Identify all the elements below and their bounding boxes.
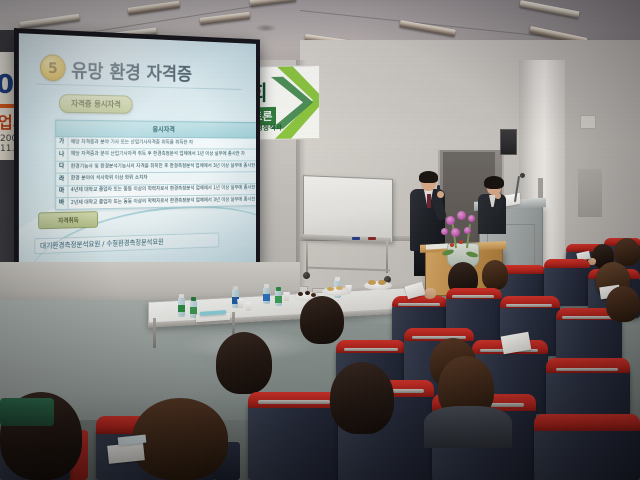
seat-bar — [398, 303, 440, 306]
seat-headrest — [336, 340, 406, 353]
handout-booklet — [107, 442, 145, 464]
bottle-cap — [276, 287, 281, 291]
orchid-bloom — [451, 228, 460, 237]
slide-row-key: 다 — [56, 161, 68, 173]
person-at-lectern-hair — [484, 176, 504, 189]
seat-headrest — [404, 328, 474, 341]
slide-row-key: 바 — [56, 197, 68, 209]
wall-speaker-icon — [500, 129, 517, 155]
slide-bottom-chip: 자격취득 — [38, 211, 98, 229]
seat-bar — [258, 400, 330, 404]
bottle-label — [178, 305, 185, 312]
snack-item — [305, 291, 310, 295]
slide-table-row: 가해당 자격증과 분야 기사 또는 산업기사자격증 취득을 취득한 자 — [56, 137, 256, 150]
whiteboard-leg — [386, 241, 388, 273]
bottle-cap — [264, 284, 269, 288]
presenter-hair — [419, 171, 438, 183]
slide-badge-number: 5 — [40, 54, 66, 81]
audience-head — [482, 260, 508, 290]
slide-section-chip: 자격증 응시자격 — [59, 94, 132, 114]
orchid-bloom — [468, 215, 475, 222]
slide-row-key: 라 — [56, 173, 68, 185]
seat-green-panel — [0, 398, 54, 426]
audience-head — [606, 286, 640, 322]
table-leg — [232, 312, 235, 336]
slide-row-key: 가 — [56, 137, 68, 149]
wall-plate — [580, 115, 596, 129]
slide-row-key: 나 — [56, 149, 68, 161]
auditorium-photo: 09 업시 2009. 11. 수회 전략토론 대학교 환경정책과 5 유망 환… — [0, 0, 640, 480]
audience-hand — [424, 288, 436, 299]
seat-bar — [506, 304, 552, 307]
orchid-bloom — [457, 211, 466, 220]
bottle-cap — [179, 294, 184, 298]
seat-headrest — [544, 259, 590, 268]
bottle-label — [275, 296, 282, 303]
seat-bar — [556, 368, 618, 371]
projected-slide: 5 유망 환경 자격증 자격증 응시자격 응시자격 가해당 자격증과 분야 기사… — [19, 33, 256, 275]
snack-item — [298, 292, 303, 296]
bottle-label — [190, 307, 197, 314]
audience-head — [132, 398, 228, 480]
whiteboard-marker[interactable] — [368, 237, 376, 240]
lectern-microphone-icon — [520, 173, 525, 178]
snack-item — [327, 287, 334, 291]
slide-row-text: 해당 자격증과 분야 기사 또는 산업기사자격증 취득을 취득한 자 — [68, 137, 257, 150]
audience-shoulders — [424, 406, 512, 448]
projection-screen: 5 유망 환경 자격증 자격증 응시자격 응시자격 가해당 자격증과 분야 기사… — [14, 28, 260, 280]
person-at-lectern-hand — [495, 193, 501, 199]
whiteboard-caster — [303, 272, 310, 279]
slide-table: 응시자격 가해당 자격증과 분야 기사 또는 산업기사자격증 취득을 취득한 자… — [55, 120, 256, 211]
orchid-bloom — [441, 228, 448, 235]
slide-table-row: 나해당 자격증과 분야 산업기사자격 취득 후 환경측정분석 업체에서 1년 이… — [56, 149, 256, 161]
bottle-cap — [233, 286, 238, 290]
table-leg — [153, 318, 156, 348]
snack-item — [368, 280, 376, 285]
accent-flower — [459, 240, 463, 244]
seat-headrest — [534, 414, 640, 431]
slide-row-key: 마 — [56, 185, 68, 197]
slide-title: 유망 환경 자격증 — [71, 56, 192, 86]
wall-panel — [578, 169, 602, 217]
orchid-bloom — [446, 216, 455, 225]
snack-item — [378, 280, 386, 285]
whiteboard-marker[interactable] — [352, 237, 360, 240]
audience-head — [330, 362, 394, 434]
bottle-label — [263, 294, 270, 301]
bottle-cap — [335, 277, 340, 281]
snack-item — [336, 286, 343, 290]
ceiling-mark — [255, 24, 277, 32]
bottle-cap — [191, 297, 196, 301]
seat-bar — [344, 348, 398, 351]
seat-bar — [452, 295, 494, 298]
audience-head — [216, 332, 272, 394]
slide-row-text: 해당 자격증과 분야 산업기사자격 취득 후 환경측정분석 업체에서 1년 이상… — [68, 149, 257, 161]
presenter-hand — [437, 191, 444, 198]
slide-title-underline — [36, 84, 241, 90]
audience-head — [300, 296, 344, 344]
mobile-whiteboard — [303, 175, 393, 243]
presenter-tie — [427, 194, 431, 208]
slide-table-header: 응시자격 — [56, 120, 256, 138]
orchid-bloom — [464, 227, 471, 234]
accent-flower — [450, 243, 454, 247]
seat[interactable] — [248, 398, 340, 480]
wall-hook — [538, 178, 543, 198]
seat-bar — [562, 316, 612, 319]
